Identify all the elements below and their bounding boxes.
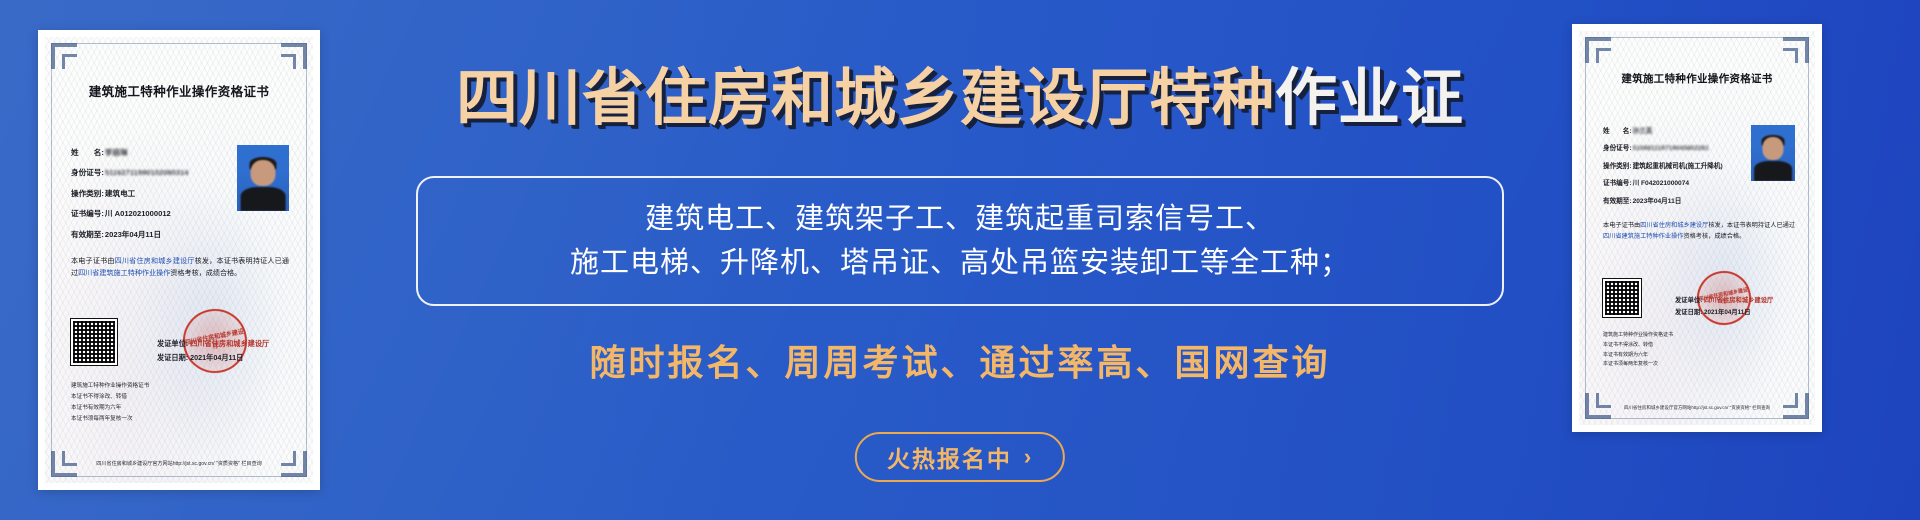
issue-date-label: 发证日期: bbox=[157, 353, 188, 362]
note-line: 本证书须每两年复核一次 bbox=[1603, 360, 1673, 370]
certificate-field-id-number: 身份证号: 51162711990102080314 bbox=[71, 167, 243, 178]
field-label: 有效期至: bbox=[1603, 197, 1632, 207]
body-prefix: 本电子证书由 bbox=[1603, 222, 1640, 229]
certificate-card-left: 建筑施工特种作业操作资格证书 姓 名: 李丽琳 身份证号: 5116271199… bbox=[38, 30, 320, 490]
body-prefix: 本电子证书由 bbox=[71, 257, 115, 265]
certificate-issuer-left: 发证单位: 四川省住房和城乡建设厅 发证日期: 2021年04月11日 bbox=[157, 337, 269, 365]
field-label: 证书编号: bbox=[71, 208, 104, 219]
certificate-field-operation-type: 操作类别: 建筑起重机械司机(施工升降机) bbox=[1603, 162, 1753, 172]
portrait-head bbox=[251, 160, 276, 186]
field-value: 川 A012021000012 bbox=[105, 208, 171, 219]
certificate-title-right: 建筑施工特种作业操作资格证书 bbox=[1579, 71, 1815, 86]
note-line: 本证书有效期为六年 bbox=[1603, 351, 1673, 361]
note-line: 本证书不得涂改、转借 bbox=[1603, 341, 1673, 351]
promo-banner: 建筑施工特种作业操作资格证书 姓 名: 李丽琳 身份证号: 5116271199… bbox=[0, 0, 1920, 520]
issuer-value: 四川省住房和城乡建设厅 bbox=[190, 339, 269, 348]
issuer-label: 发证单位: bbox=[157, 339, 188, 348]
field-label: 操作类别: bbox=[71, 188, 104, 199]
certificate-body-text-right: 本电子证书由四川省住房和城乡建设厅核发，本证书表明持证人已通过四川省建筑施工特种… bbox=[1603, 221, 1795, 242]
certificate-field-cert-number: 证书编号: 川 A012021000012 bbox=[71, 208, 243, 219]
field-value: 建筑起重机械司机(施工升降机) bbox=[1633, 162, 1723, 172]
fret-corner-icon bbox=[281, 43, 307, 69]
body-highlight-2: 四川省建筑施工特种作业操作 bbox=[1603, 233, 1683, 240]
issue-date-value: 2021年04月11日 bbox=[190, 353, 243, 362]
issuer-row: 发证单位: 四川省住房和城乡建设厅 bbox=[157, 337, 269, 351]
certificate-fields-right: 姓 名: 孙兰英 身份证号: 510681119719045802281 操作类… bbox=[1603, 127, 1753, 214]
issuer-value: 四川省住房和城乡建设厅 bbox=[1704, 297, 1773, 304]
body-middle: 核发，本证书表明持证人已通过 bbox=[1708, 222, 1795, 229]
portrait-body bbox=[241, 187, 286, 211]
field-label: 姓 名: bbox=[1603, 127, 1632, 137]
certificate-field-name: 姓 名: 孙兰英 bbox=[1603, 127, 1753, 137]
note-line: 本证书不得涂改、转借 bbox=[71, 392, 149, 403]
certificate-qr-code-left bbox=[71, 319, 117, 365]
body-highlight: 四川省住房和城乡建设厅 bbox=[115, 257, 195, 265]
promise-text: 随时报名、周周考试、通过率高、国网查询 bbox=[340, 334, 1580, 386]
certificate-qr-code-right bbox=[1603, 279, 1641, 317]
field-value: 川 F042021000074 bbox=[1633, 179, 1689, 189]
field-label: 证书编号: bbox=[1603, 179, 1632, 189]
certificate-field-valid-until: 有效期至: 2023年04月11日 bbox=[1603, 197, 1753, 207]
field-value: 2023年04月11日 bbox=[1633, 197, 1682, 207]
enroll-now-label: 火热报名中 bbox=[887, 440, 1012, 474]
body-suffix: 资格考核，成绩合格。 bbox=[170, 269, 241, 277]
field-value: 51162711990102080314 bbox=[105, 167, 189, 178]
certificate-title-left: 建筑施工特种作业操作资格证书 bbox=[45, 81, 313, 100]
page-title-part-b: 作业证 bbox=[1275, 64, 1464, 133]
scope-box: 建筑电工、建筑架子工、建筑起重司索信号工、 施工电梯、升降机、塔吊证、高处吊篮安… bbox=[416, 176, 1504, 306]
note-line: 建筑施工特种作业操作资格证书 bbox=[1603, 331, 1673, 341]
chevron-right-icon: › bbox=[1024, 446, 1033, 468]
portrait-head bbox=[1762, 137, 1783, 159]
certificate-issuer-right: 发证单位: 四川省住房和城乡建设厅 发证日期: 2021年04月11日 bbox=[1675, 295, 1773, 320]
body-highlight: 四川省住房和城乡建设厅 bbox=[1640, 222, 1708, 229]
note-line: 本证书须每两年复核一次 bbox=[71, 414, 149, 425]
certificate-body-text-left: 本电子证书由四川省住房和城乡建设厅核发，本证书表明持证人已通过四川省建筑施工特种… bbox=[71, 255, 289, 279]
fret-corner-icon bbox=[1585, 37, 1611, 63]
portrait-body bbox=[1754, 161, 1792, 181]
issuer-label: 发证单位: bbox=[1675, 297, 1702, 304]
certificate-field-name: 姓 名: 李丽琳 bbox=[71, 147, 243, 158]
fret-corner-icon bbox=[51, 43, 77, 69]
certificate-notes-right: 建筑施工特种作业操作资格证书 本证书不得涂改、转借 本证书有效期为六年 本证书须… bbox=[1603, 331, 1673, 370]
field-value: 建筑电工 bbox=[105, 188, 135, 199]
field-value: 2023年04月11日 bbox=[105, 229, 161, 240]
issuer-row: 发证单位: 四川省住房和城乡建设厅 bbox=[1675, 295, 1773, 307]
issue-date-row: 发证日期: 2021年04月11日 bbox=[157, 351, 269, 365]
issue-date-label: 发证日期: bbox=[1675, 309, 1702, 316]
field-value: 李丽琳 bbox=[105, 147, 128, 158]
note-line: 建筑施工特种作业操作资格证书 bbox=[71, 381, 149, 392]
certificate-notes-left: 建筑施工特种作业操作资格证书 本证书不得涂改、转借 本证书有效期为六年 本证书须… bbox=[71, 381, 149, 425]
field-label: 姓 名: bbox=[71, 147, 104, 158]
certificate-inner-right: 建筑施工特种作业操作资格证书 姓 名: 孙兰英 身份证号: 5106811197… bbox=[1579, 31, 1815, 425]
enroll-now-button[interactable]: 火热报名中 › bbox=[855, 432, 1065, 482]
scope-line-1: 建筑电工、建筑架子工、建筑起重司索信号工、 bbox=[645, 202, 1275, 236]
field-value: 孙兰英 bbox=[1633, 127, 1653, 137]
certificate-footer-left: 四川省住房和城乡建设厅官方网站http://jst.sc.gov.cn/ "资质… bbox=[45, 460, 313, 467]
fret-corner-icon bbox=[1783, 37, 1809, 63]
field-label: 操作类别: bbox=[1603, 162, 1632, 172]
certificate-field-id-number: 身份证号: 510681119719045802281 bbox=[1603, 144, 1753, 154]
certificate-portrait-photo-right bbox=[1751, 125, 1795, 181]
certificate-field-valid-until: 有效期至: 2023年04月11日 bbox=[71, 229, 243, 240]
certificate-fields-left: 姓 名: 李丽琳 身份证号: 51162711990102080314 操作类别… bbox=[71, 147, 243, 249]
issue-date-value: 2021年04月11日 bbox=[1704, 309, 1751, 316]
field-value: 510681119719045802281 bbox=[1633, 144, 1709, 154]
issue-date-row: 发证日期: 2021年04月11日 bbox=[1675, 307, 1773, 319]
scope-line-2: 施工电梯、升降机、塔吊证、高处吊篮安装卸工等全工种； bbox=[570, 246, 1350, 280]
body-suffix: 资格考核，成绩合格。 bbox=[1683, 233, 1745, 240]
certificate-field-cert-number: 证书编号: 川 F042021000074 bbox=[1603, 179, 1753, 189]
note-line: 本证书有效期为六年 bbox=[71, 403, 149, 414]
field-label: 身份证号: bbox=[71, 167, 104, 178]
field-label: 身份证号: bbox=[1603, 144, 1632, 154]
page-title-part-a: 四川省住房和城乡建设厅特种 bbox=[456, 64, 1275, 133]
certificate-portrait-photo-left bbox=[237, 145, 289, 211]
certificate-field-operation-type: 操作类别: 建筑电工 bbox=[71, 188, 243, 199]
banner-center-content: 四川省住房和城乡建设厅特种作业证 建筑电工、建筑架子工、建筑起重司索信号工、 施… bbox=[340, 0, 1580, 520]
certificate-footer-right: 四川省住房和城乡建设厅官方网站http://jst.sc.gov.cn/ "资质… bbox=[1579, 405, 1815, 411]
body-highlight-2: 四川省建筑施工特种作业操作 bbox=[78, 269, 170, 277]
page-title: 四川省住房和城乡建设厅特种作业证 bbox=[340, 68, 1580, 130]
certificate-card-right: 建筑施工特种作业操作资格证书 姓 名: 孙兰英 身份证号: 5106811197… bbox=[1572, 24, 1822, 432]
certificate-inner-left: 建筑施工特种作业操作资格证书 姓 名: 李丽琳 身份证号: 5116271199… bbox=[45, 37, 313, 483]
field-label: 有效期至: bbox=[71, 229, 104, 240]
